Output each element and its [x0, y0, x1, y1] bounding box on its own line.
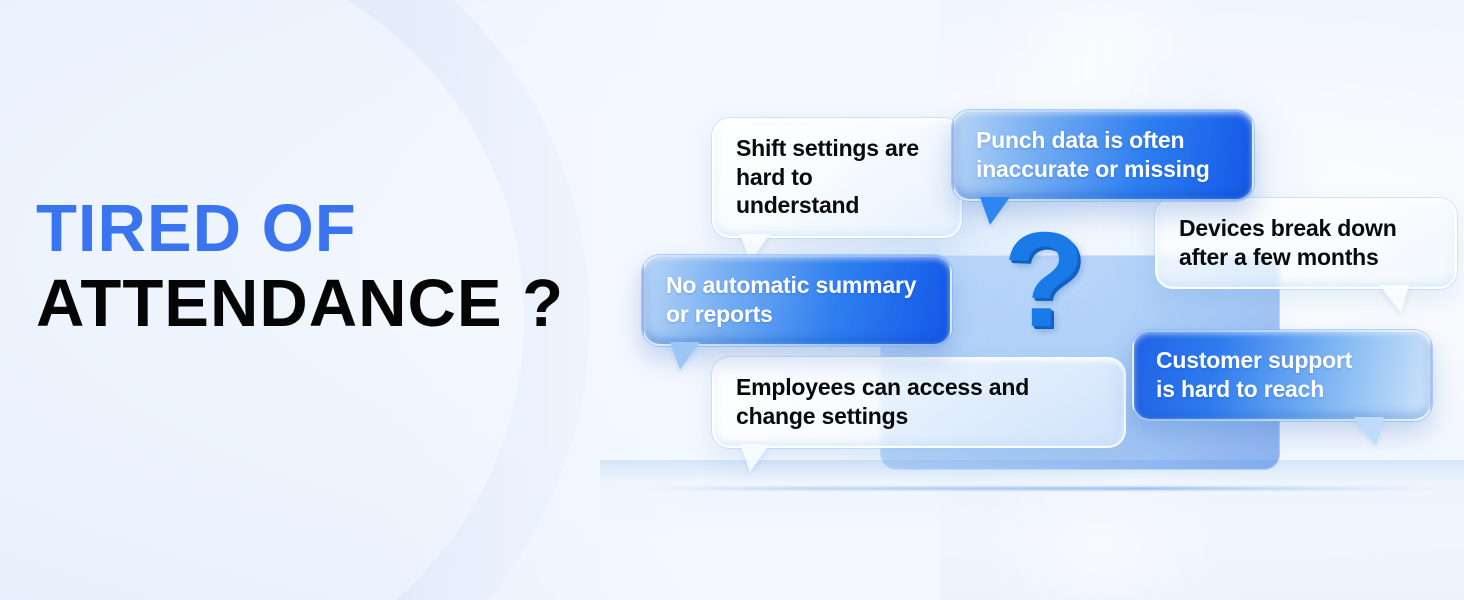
speech-bubble-tail-icon: [1354, 417, 1384, 445]
speech-bubble-shift-settings: Shift settings are hard to understand: [712, 118, 962, 238]
background-floor-reflection: [600, 460, 1464, 600]
speech-bubble-devices-break-down: Devices break down after a few months: [1155, 198, 1457, 289]
headline-line-2: ATTENDANCE ?: [36, 271, 564, 337]
speech-bubble-text: Customer support is hard to reach: [1156, 346, 1352, 403]
speech-bubble-tail-icon: [980, 197, 1010, 225]
speech-bubble-no-automatic-summary: No automatic summary or reports: [642, 255, 952, 346]
headline-line-1: TIRED OF: [36, 196, 564, 262]
speech-bubble-text: Punch data is often inaccurate or missin…: [976, 126, 1210, 183]
speech-bubble-tail-icon: [1379, 285, 1409, 313]
speech-bubble-tail-icon: [740, 444, 770, 472]
speech-bubble-tail-icon: [670, 342, 700, 370]
speech-bubble-text: Shift settings are hard to understand: [736, 134, 940, 220]
speech-bubble-punch-data: Punch data is often inaccurate or missin…: [952, 110, 1254, 201]
background-floor-line: [650, 487, 1440, 490]
promo-banner: TIRED OF ATTENDANCE ? ? Shift settings a…: [0, 0, 1464, 600]
speech-bubble-text: Employees can access and change settings: [736, 373, 1029, 430]
speech-bubble-employees-access: Employees can access and change settings: [712, 357, 1126, 448]
speech-bubble-text: Devices break down after a few months: [1179, 214, 1397, 271]
speech-bubble-customer-support: Customer support is hard to reach: [1132, 330, 1432, 421]
speech-bubble-text: No automatic summary or reports: [666, 271, 916, 328]
page-title: TIRED OF ATTENDANCE ?: [36, 196, 564, 336]
question-mark-icon: ?: [1003, 212, 1085, 347]
